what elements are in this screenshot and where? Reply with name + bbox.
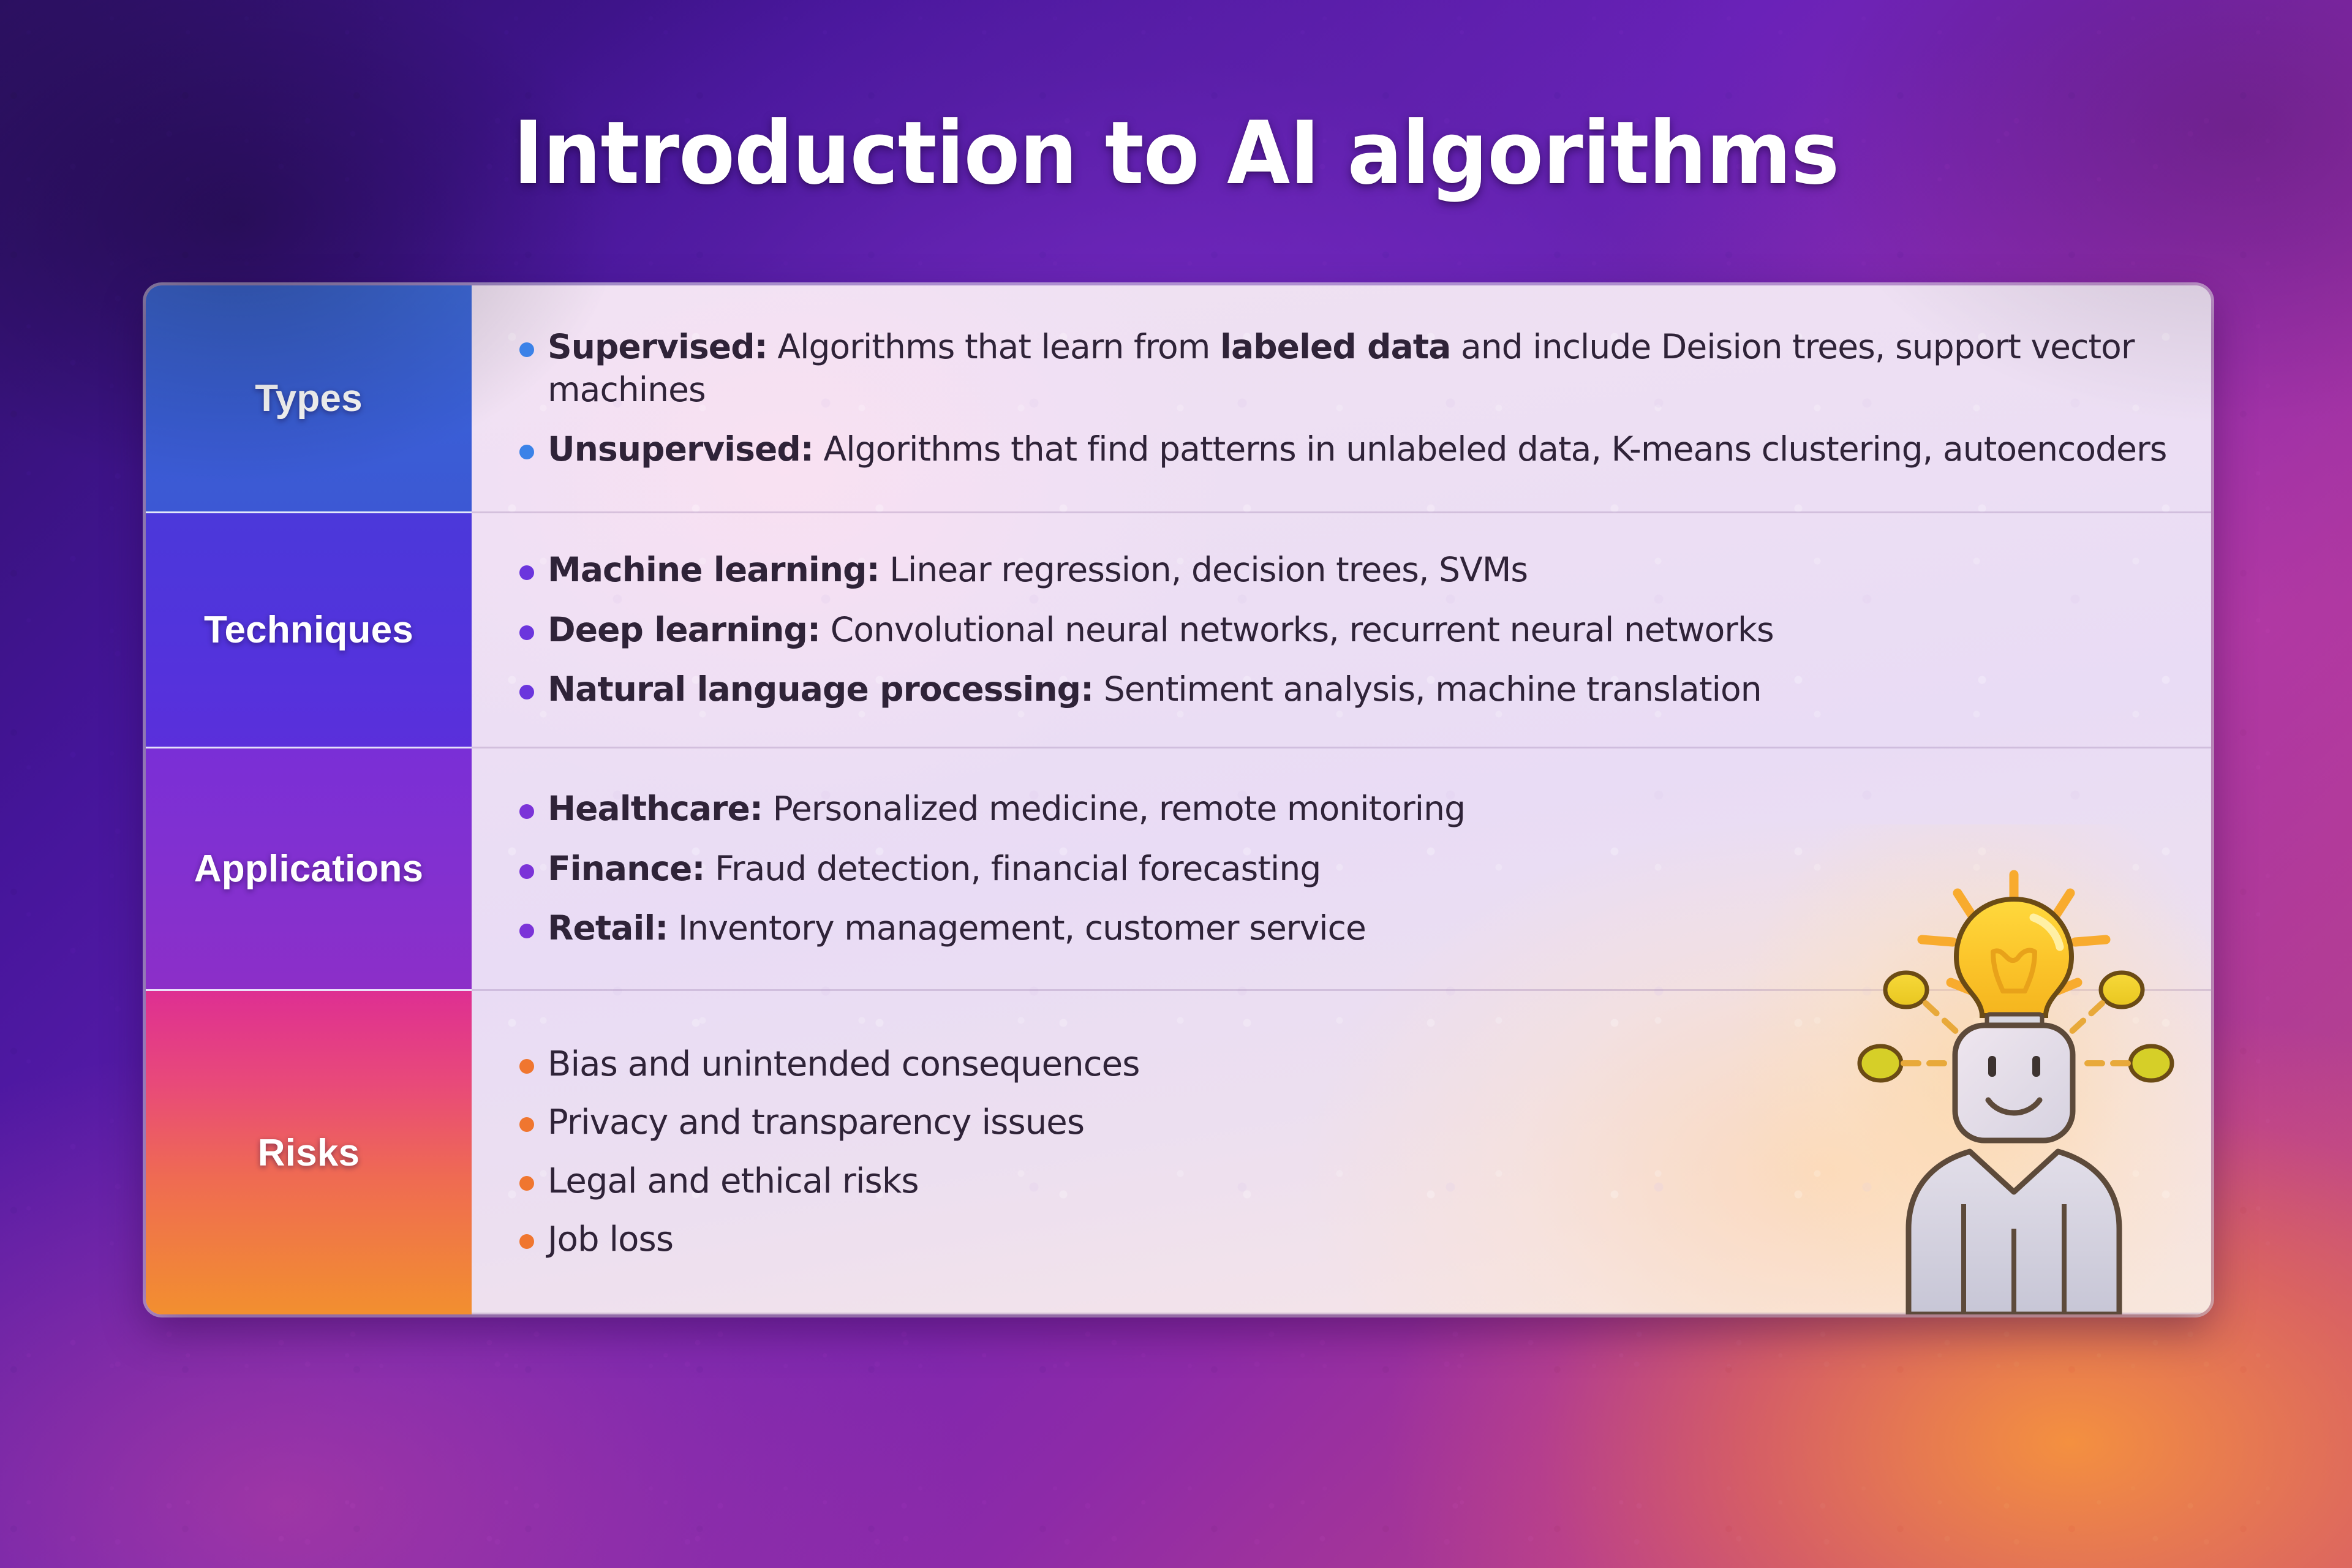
list-item-lead: Unsupervised:	[548, 429, 813, 469]
list-item: Retail: Inventory management, customer s…	[519, 907, 2167, 950]
content-row-types: Supervised: Algorithms that learn from l…	[472, 285, 2211, 513]
list-item: Legal and ethical risks	[519, 1159, 2167, 1203]
list-item-text: Machine learning: Linear regression, dec…	[548, 549, 2167, 592]
list-item-lead: Natural language processing:	[548, 669, 1093, 709]
list-item-bold2: labeled data	[1220, 327, 1450, 366]
bullet-dot-icon	[519, 342, 534, 357]
list-item: Privacy and transparency issues	[519, 1101, 2167, 1144]
content-column: Supervised: Algorithms that learn from l…	[472, 285, 2211, 1314]
slide-canvas: Introduction to AI algorithms Types Tech…	[0, 0, 2352, 1568]
list-item-lead: Supervised:	[548, 327, 767, 366]
content-row-risks: Bias and unintended consequences Privacy…	[472, 991, 2211, 1314]
list-item-rest: Linear regression, decision trees, SVMs	[880, 550, 1528, 589]
content-row-techniques: Machine learning: Linear regression, dec…	[472, 513, 2211, 748]
list-item-rest: Convolutional neural networks, recurrent…	[820, 610, 1774, 649]
list-item-lead: Finance:	[548, 849, 705, 888]
list-item-text: Deep learning: Convolutional neural netw…	[548, 609, 2167, 652]
bullet-dot-icon	[519, 804, 534, 819]
list-item-rest: Fraud detection, financial forecasting	[705, 849, 1321, 888]
bullet-dot-icon	[519, 565, 534, 580]
list-item-rest: Algorithms that find patterns in unlabel…	[813, 429, 2167, 469]
list-item-text: Retail: Inventory management, customer s…	[548, 907, 2167, 950]
category-label-risks: Risks	[258, 1131, 360, 1175]
category-cell-applications[interactable]: Applications	[146, 748, 472, 991]
bullet-dot-icon	[519, 1059, 534, 1074]
bullet-dot-icon	[519, 625, 534, 640]
content-row-applications: Healthcare: Personalized medicine, remot…	[472, 748, 2211, 991]
list-item: Machine learning: Linear regression, dec…	[519, 549, 2167, 592]
list-item-text: Legal and ethical risks	[548, 1159, 2167, 1203]
list-item-text: Unsupervised: Algorithms that find patte…	[548, 428, 2167, 471]
list-item: Supervised: Algorithms that learn from l…	[519, 326, 2167, 412]
category-cell-techniques[interactable]: Techniques	[146, 513, 472, 748]
list-item-text: Finance: Fraud detection, financial fore…	[548, 848, 2167, 891]
category-cell-types[interactable]: Types	[146, 285, 472, 513]
list-item-rest: Sentiment analysis, machine translation	[1093, 669, 1761, 709]
list-item: Bias and unintended consequences	[519, 1042, 2167, 1086]
list-item-text: Healthcare: Personalized medicine, remot…	[548, 788, 2167, 831]
page-title: Introduction to AI algorithms	[70, 103, 2282, 204]
list-item-text: Natural language processing: Sentiment a…	[548, 668, 2167, 711]
list-item-rest: Personalized medicine, remote monitoring	[763, 789, 1465, 828]
list-item-lead: Healthcare:	[548, 789, 763, 828]
bullet-dot-icon	[519, 924, 534, 938]
bullet-dot-icon	[519, 1234, 534, 1249]
list-item: Job loss	[519, 1218, 2167, 1261]
list-item: Finance: Fraud detection, financial fore…	[519, 848, 2167, 891]
bullet-dot-icon	[519, 1176, 534, 1191]
category-cell-risks[interactable]: Risks	[146, 991, 472, 1314]
bullet-dot-icon	[519, 1117, 534, 1132]
category-label-applications: Applications	[194, 847, 423, 891]
bullet-dot-icon	[519, 445, 534, 459]
list-item-text: Privacy and transparency issues	[548, 1101, 2167, 1144]
list-item-rest: Algorithms that learn from	[767, 327, 1220, 366]
list-item: Natural language processing: Sentiment a…	[519, 668, 2167, 711]
list-item: Healthcare: Personalized medicine, remot…	[519, 788, 2167, 831]
list-item-text: Bias and unintended consequences	[548, 1042, 2167, 1086]
category-label-types: Types	[255, 377, 363, 420]
list-item: Unsupervised: Algorithms that find patte…	[519, 428, 2167, 471]
list-item: Deep learning: Convolutional neural netw…	[519, 609, 2167, 652]
bullet-dot-icon	[519, 685, 534, 699]
list-item-lead: Retail:	[548, 908, 668, 948]
category-column: Types Techniques Applications Risks	[146, 285, 472, 1314]
list-item-lead: Machine learning:	[548, 550, 880, 589]
list-item-rest: Inventory management, customer service	[668, 908, 1365, 948]
content-card: Types Techniques Applications Risks Supe…	[146, 285, 2211, 1314]
list-item-text: Supervised: Algorithms that learn from l…	[548, 326, 2167, 412]
list-item-lead: Deep learning:	[548, 610, 820, 649]
list-item-text: Job loss	[548, 1218, 2167, 1261]
category-label-techniques: Techniques	[204, 608, 413, 652]
bullet-dot-icon	[519, 864, 534, 879]
